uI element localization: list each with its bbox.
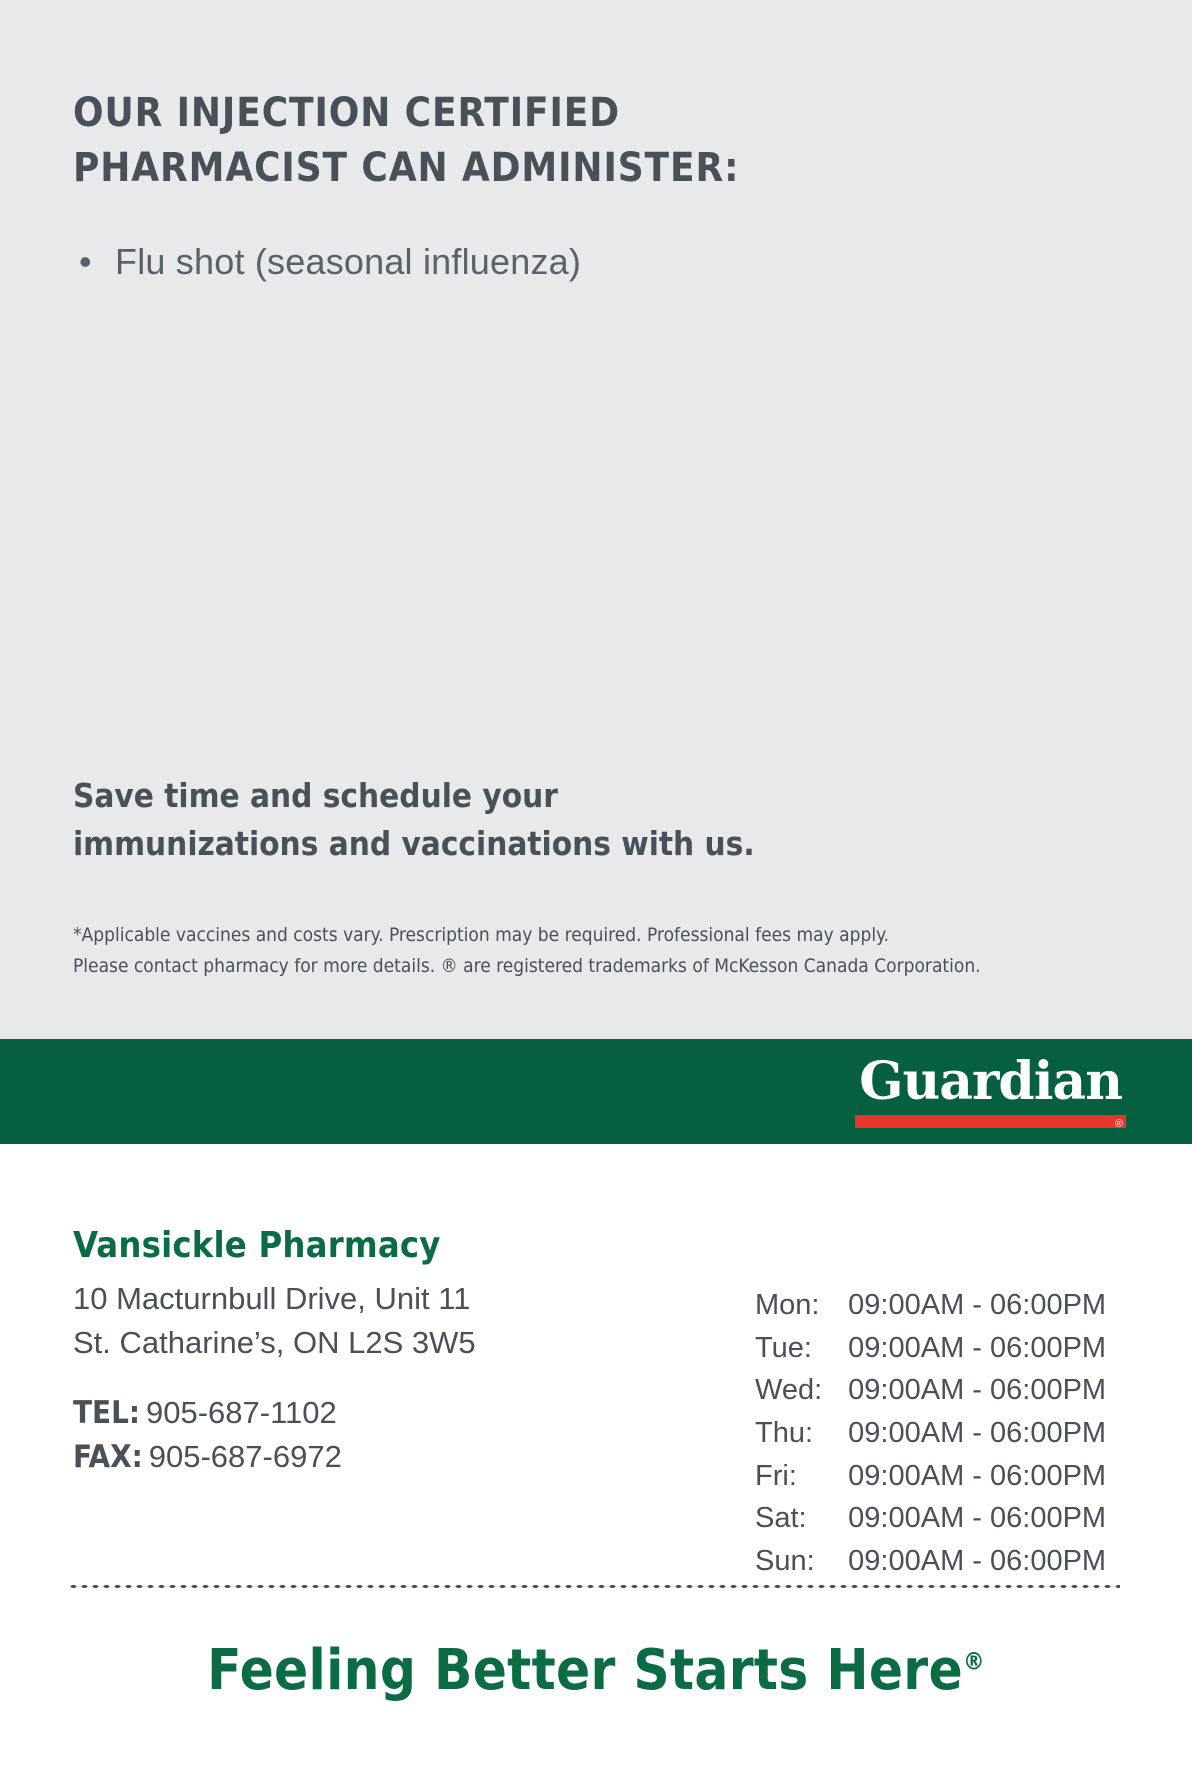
table-row: Sat: 09:00AM - 06:00PM [755, 1500, 1106, 1543]
fax-value: 905-687-6972 [149, 1439, 342, 1474]
store-address: 10 Macturnbull Drive, Unit 11 St. Cathar… [73, 1277, 693, 1365]
store-phone-row: TEL:905-687-1102 [73, 1391, 693, 1435]
registered-trademark-icon: ® [1115, 1119, 1123, 1130]
hours-day: Thu: [755, 1415, 848, 1458]
hours-day: Wed: [755, 1372, 848, 1415]
table-row: Mon: 09:00AM - 06:00PM [755, 1287, 1106, 1330]
hours-time: 09:00AM - 06:00PM [848, 1458, 1106, 1501]
hours-time: 09:00AM - 06:00PM [848, 1287, 1106, 1330]
page-title: OUR INJECTION CERTIFIED PHARMACIST CAN A… [73, 86, 973, 196]
services-list: • Flu shot (seasonal influenza) [73, 238, 993, 293]
guardian-logo: Guardian ® [855, 1056, 1126, 1128]
logo-underline-bar: ® [855, 1115, 1126, 1128]
hours-time: 09:00AM - 06:00PM [848, 1330, 1106, 1373]
store-contact: TEL:905-687-1102 FAX:905-687-6972 [73, 1391, 693, 1479]
fax-label: FAX: [73, 1439, 143, 1475]
save-time-line-1: Save time and schedule your [73, 772, 913, 820]
footer-tagline: Feeling Better Starts Here® [0, 1640, 1192, 1702]
guardian-wordmark: Guardian [855, 1056, 1126, 1112]
hours-day: Fri: [755, 1458, 848, 1501]
table-row: Wed: 09:00AM - 06:00PM [755, 1372, 1106, 1415]
hours-time: 09:00AM - 06:00PM [848, 1543, 1106, 1586]
brand-band: Guardian ® [0, 1039, 1192, 1144]
save-time-line-2: immunizations and vaccinations with us. [73, 820, 913, 868]
page-title-line-2: PHARMACIST CAN ADMINISTER: [73, 141, 973, 196]
list-item: • Flu shot (seasonal influenza) [73, 238, 993, 287]
store-fax-row: FAX:905-687-6972 [73, 1435, 693, 1479]
store-details: Vansickle Pharmacy 10 Macturnbull Drive,… [73, 1224, 693, 1479]
table-row: Tue: 09:00AM - 06:00PM [755, 1330, 1106, 1373]
hours-day: Mon: [755, 1287, 848, 1330]
store-address-line-2: St. Catharine’s, ON L2S 3W5 [73, 1321, 693, 1365]
hours-time: 09:00AM - 06:00PM [848, 1415, 1106, 1458]
store-hours-table: Mon: 09:00AM - 06:00PM Tue: 09:00AM - 06… [755, 1287, 1106, 1586]
table-row: Thu: 09:00AM - 06:00PM [755, 1415, 1106, 1458]
bullet-icon: • [79, 238, 92, 287]
table-row: Fri: 09:00AM - 06:00PM [755, 1458, 1106, 1501]
store-address-line-1: 10 Macturnbull Drive, Unit 11 [73, 1277, 693, 1321]
hours-time: 09:00AM - 06:00PM [848, 1500, 1106, 1543]
table-row: Sun: 09:00AM - 06:00PM [755, 1543, 1106, 1586]
store-name: Vansickle Pharmacy [73, 1224, 693, 1267]
disclaimer-line-1: *Applicable vaccines and costs vary. Pre… [73, 920, 1113, 951]
hours-day: Sun: [755, 1543, 848, 1586]
service-label: Flu shot (seasonal influenza) [115, 241, 581, 282]
divider [68, 1584, 1120, 1589]
services-panel: OUR INJECTION CERTIFIED PHARMACIST CAN A… [0, 0, 1192, 1039]
footer-tagline-text: Feeling Better Starts Here [207, 1638, 963, 1703]
hours-day: Sat: [755, 1500, 848, 1543]
hours-time: 09:00AM - 06:00PM [848, 1372, 1106, 1415]
phone-label: TEL: [73, 1395, 140, 1431]
disclaimer: *Applicable vaccines and costs vary. Pre… [73, 920, 1113, 983]
registered-trademark-icon: ® [963, 1647, 985, 1675]
disclaimer-line-2: Please contact pharmacy for more details… [73, 951, 1113, 982]
hours-day: Tue: [755, 1330, 848, 1373]
phone-value[interactable]: 905-687-1102 [146, 1395, 337, 1430]
save-time-message: Save time and schedule your immunization… [73, 772, 913, 868]
page-title-line-1: OUR INJECTION CERTIFIED [73, 86, 973, 141]
